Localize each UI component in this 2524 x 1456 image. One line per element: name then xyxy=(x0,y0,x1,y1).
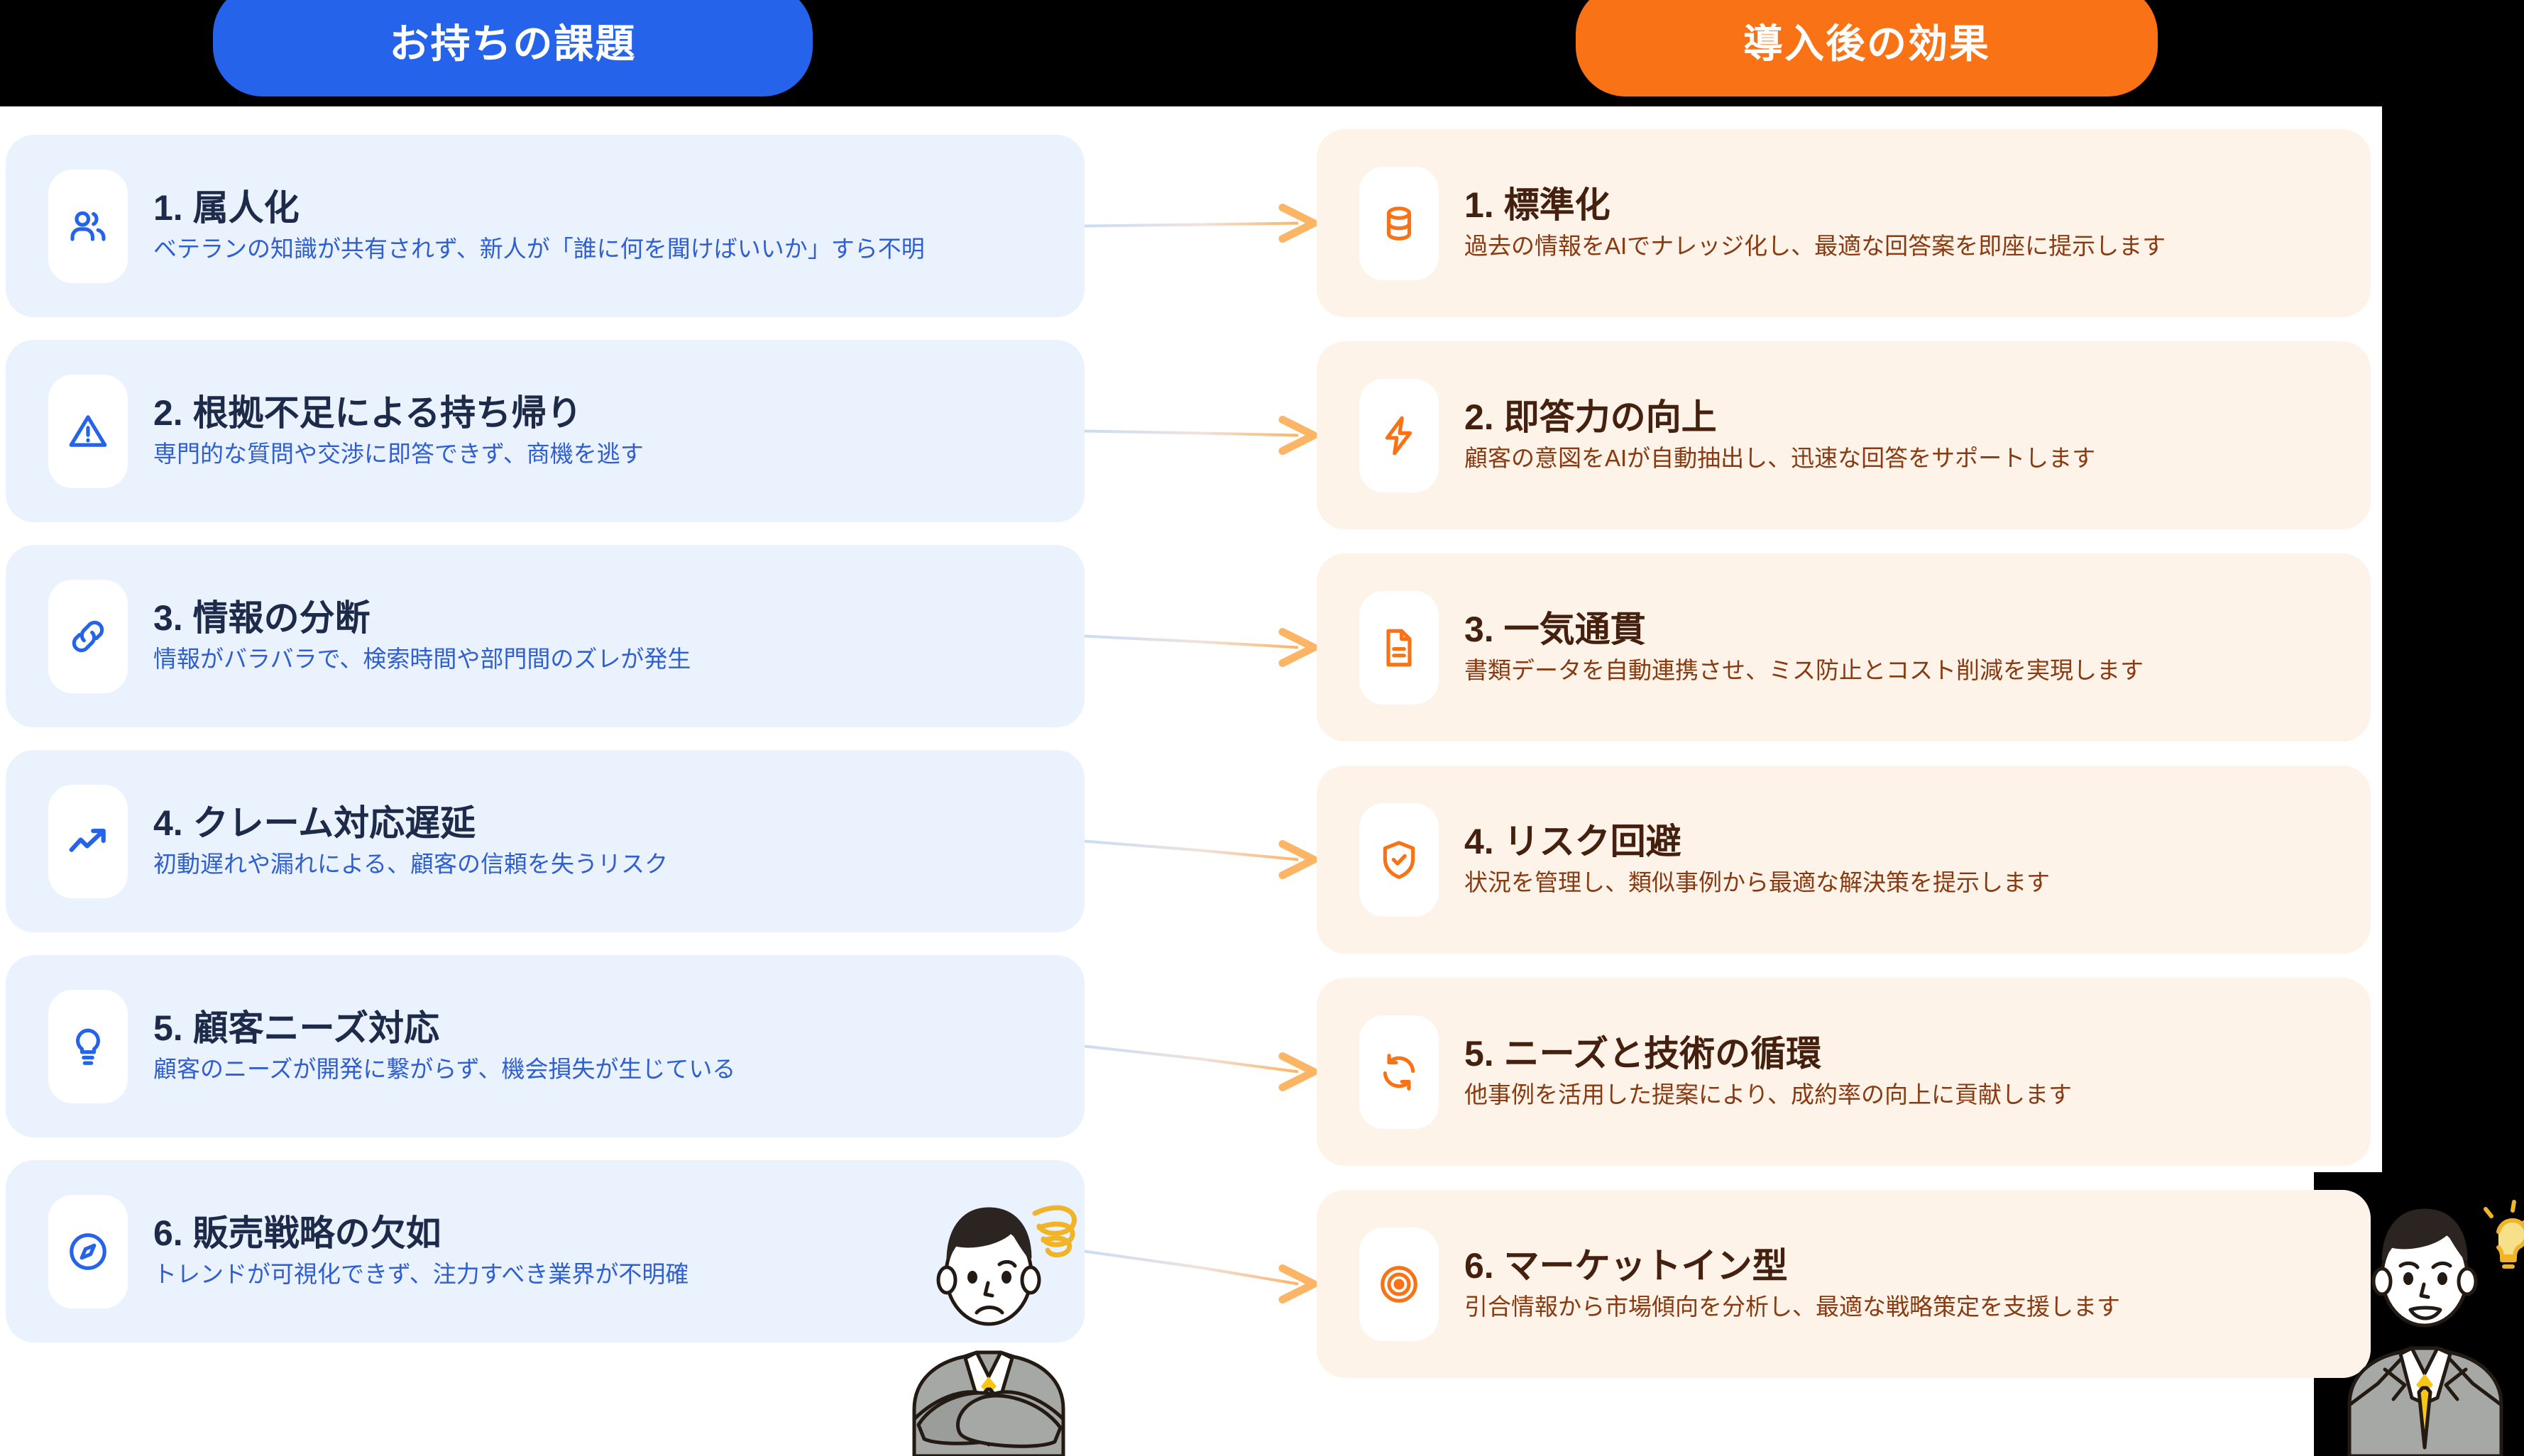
card-body: 4. クレーム対応遅延 初動遅れや漏れによる、顧客の信頼を失うリスク xyxy=(153,803,1053,880)
challenge-card-2[interactable]: 2. 根拠不足による持ち帰り 専門的な質問や交渉に即答できず、商機を逃す xyxy=(6,340,1085,522)
card-body: 2. 根拠不足による持ち帰り 専門的な質問や交渉に即答できず、商機を逃す xyxy=(153,392,1053,470)
card-description: 情報がバラバラで、検索時間や部門間のズレが発生 xyxy=(153,644,1053,675)
card-body: 3. 情報の分断 情報がバラバラで、検索時間や部門間のズレが発生 xyxy=(153,597,1053,675)
lightbulb-icon xyxy=(48,990,128,1103)
link-chain-icon xyxy=(48,580,128,693)
card-description: 顧客のニーズが開発に繋がらず、機会損失が生じている xyxy=(153,1054,1053,1085)
card-title: 3. 情報の分断 xyxy=(153,597,1053,639)
card-body: 1. 標準化 過去の情報をAIでナレッジ化し、最適な回答案を即座に提示します xyxy=(1464,184,2339,262)
challenge-card-1[interactable]: 1. 属人化 ベテランの知識が共有されず、新人が「誰に何を聞けばいいか」すら不明 xyxy=(6,135,1085,317)
worried-businessman-illustration xyxy=(893,1184,1085,1456)
benefit-card-4[interactable]: 4. リスク回避 状況を管理し、類似事例から最適な解決策を提示します xyxy=(1317,766,2371,954)
target-icon xyxy=(1359,1228,1439,1341)
card-body: 5. ニーズと技術の循環 他事例を活用した提案により、成約率の向上に貢献します xyxy=(1464,1033,2339,1110)
card-title: 6. マーケットイン型 xyxy=(1464,1245,2339,1286)
card-description: ベテランの知識が共有されず、新人が「誰に何を聞けばいいか」すら不明 xyxy=(153,234,1053,265)
card-description: 初動遅れや漏れによる、顧客の信頼を失うリスク xyxy=(153,849,1053,880)
challenge-card-3[interactable]: 3. 情報の分断 情報がバラバラで、検索時間や部門間のズレが発生 xyxy=(6,545,1085,727)
card-description: 他事例を活用した提案により、成約率の向上に貢献します xyxy=(1464,1080,2339,1110)
smiling-businessman-illustration xyxy=(2337,1192,2524,1456)
card-title: 1. 属人化 xyxy=(153,187,1053,228)
card-description: 過去の情報をAIでナレッジ化し、最適な回答案を即座に提示します xyxy=(1464,231,2339,262)
users-icon xyxy=(48,170,128,283)
compass-icon xyxy=(48,1195,128,1308)
card-title: 2. 即答力の向上 xyxy=(1464,397,2339,438)
card-description: 書類データを自動連携させ、ミス防止とコスト削減を実現します xyxy=(1464,656,2339,686)
benefit-card-1[interactable]: 1. 標準化 過去の情報をAIでナレッジ化し、最適な回答案を即座に提示します xyxy=(1317,129,2371,317)
card-description: 状況を管理し、類似事例から最適な解決策を提示します xyxy=(1464,868,2339,898)
card-title: 4. リスク回避 xyxy=(1464,821,2339,862)
card-description: 引合情報から市場傾向を分析し、最適な戦略策定を支援します xyxy=(1464,1292,2339,1323)
header-pill-challenges: お持ちの課題 xyxy=(213,0,813,96)
card-body: 1. 属人化 ベテランの知識が共有されず、新人が「誰に何を聞けばいいか」すら不明 xyxy=(153,187,1053,265)
challenge-card-4[interactable]: 4. クレーム対応遅延 初動遅れや漏れによる、顧客の信頼を失うリスク xyxy=(6,750,1085,932)
card-description: 顧客の意図をAIが自動抽出し、迅速な回答をサポートします xyxy=(1464,443,2339,474)
card-body: 6. マーケットイン型 引合情報から市場傾向を分析し、最適な戦略策定を支援します xyxy=(1464,1245,2339,1323)
card-title: 5. ニーズと技術の循環 xyxy=(1464,1033,2339,1074)
challenges-column: 1. 属人化 ベテランの知識が共有されず、新人が「誰に何を聞けばいいか」すら不明… xyxy=(6,135,1085,1365)
card-title: 2. 根拠不足による持ち帰り xyxy=(153,392,1053,434)
benefit-card-3[interactable]: 3. 一気通貫 書類データを自動連携させ、ミス防止とコスト削減を実現します xyxy=(1317,553,2371,741)
card-body: 4. リスク回避 状況を管理し、類似事例から最適な解決策を提示します xyxy=(1464,821,2339,898)
challenge-card-5[interactable]: 5. 顧客ニーズ対応 顧客のニーズが開発に繋がらず、機会損失が生じている xyxy=(6,955,1085,1137)
database-icon xyxy=(1359,167,1439,280)
benefits-column: 1. 標準化 過去の情報をAIでナレッジ化し、最適な回答案を即座に提示します 2… xyxy=(1317,129,2371,1402)
trending-up-icon xyxy=(48,785,128,898)
document-icon xyxy=(1359,591,1439,705)
warning-triangle-icon xyxy=(48,375,128,488)
header-pill-benefits-label: 導入後の効果 xyxy=(1743,12,1990,70)
benefit-card-2[interactable]: 2. 即答力の向上 顧客の意図をAIが自動抽出し、迅速な回答をサポートします xyxy=(1317,341,2371,529)
card-title: 1. 標準化 xyxy=(1464,184,2339,226)
header-pill-challenges-label: お持ちの課題 xyxy=(390,12,637,70)
slide-canvas: 1. 属人化 ベテランの知識が共有されず、新人が「誰に何を聞けばいいか」すら不明… xyxy=(0,0,2524,1456)
header-pill-benefits: 導入後の効果 xyxy=(1576,0,2158,96)
card-body: 2. 即答力の向上 顧客の意図をAIが自動抽出し、迅速な回答をサポートします xyxy=(1464,397,2339,474)
benefit-card-6[interactable]: 6. マーケットイン型 引合情報から市場傾向を分析し、最適な戦略策定を支援します xyxy=(1317,1190,2371,1378)
card-title: 5. 顧客ニーズ対応 xyxy=(153,1008,1053,1049)
card-description: 専門的な質問や交渉に即答できず、商機を逃す xyxy=(153,439,1053,470)
lightning-bolt-icon xyxy=(1359,379,1439,492)
card-body: 3. 一気通貫 書類データを自動連携させ、ミス防止とコスト削減を実現します xyxy=(1464,609,2339,686)
refresh-cycle-icon xyxy=(1359,1015,1439,1129)
card-title: 4. クレーム対応遅延 xyxy=(153,803,1053,844)
shield-check-icon xyxy=(1359,803,1439,917)
benefit-card-5[interactable]: 5. ニーズと技術の循環 他事例を活用した提案により、成約率の向上に貢献します xyxy=(1317,978,2371,1166)
card-body: 5. 顧客ニーズ対応 顧客のニーズが開発に繋がらず、機会損失が生じている xyxy=(153,1008,1053,1085)
card-title: 3. 一気通貫 xyxy=(1464,609,2339,650)
